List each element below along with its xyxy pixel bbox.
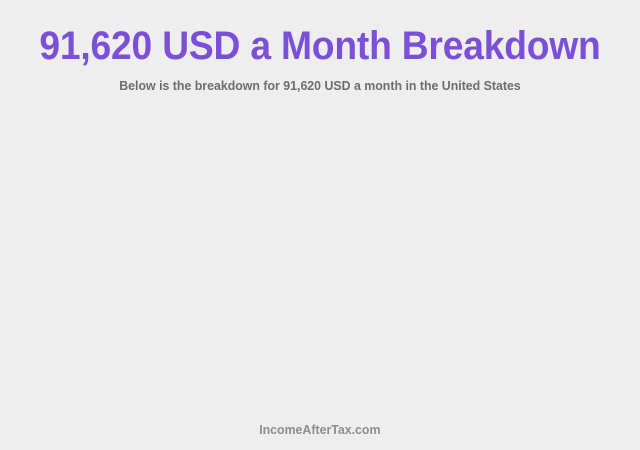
page-title: 91,620 USD a Month Breakdown bbox=[22, 0, 617, 68]
page-header: 91,620 USD a Month Breakdown Below is th… bbox=[0, 0, 640, 94]
page-footer: IncomeAfterTax.com bbox=[0, 410, 640, 450]
page-subtitle: Below is the breakdown for 91,620 USD a … bbox=[16, 68, 624, 94]
page-root: 91,620 USD a Month Breakdown Below is th… bbox=[0, 0, 640, 450]
breakdown-content-area bbox=[0, 118, 640, 410]
site-brand-label: IncomeAfterTax.com bbox=[259, 422, 380, 438]
